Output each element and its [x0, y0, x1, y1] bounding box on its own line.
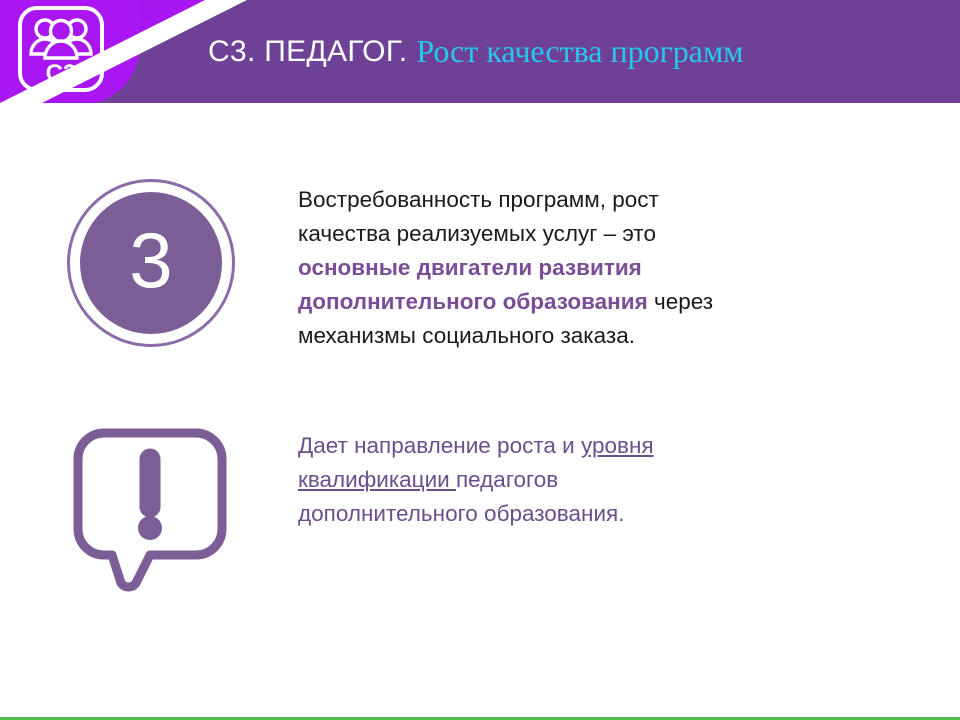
slide-content: 3 Востребованность программ, рост качест… — [0, 103, 960, 720]
slide-header: С3 С3. ПЕДАГОГ. Рост качества программ — [0, 0, 960, 103]
number-circle-label: 3 — [129, 221, 172, 299]
badge-label: С3 — [46, 60, 77, 87]
slide-root: С3 С3. ПЕДАГОГ. Рост качества программ 3… — [0, 0, 960, 720]
group-of-people-icon: С3 — [16, 5, 106, 93]
block-1-marker-column: 3 — [0, 179, 298, 347]
content-block-1: 3 Востребованность программ, рост качест… — [0, 179, 858, 353]
speech-bubble-exclamation-icon — [70, 425, 230, 593]
number-circle-badge: 3 — [67, 179, 235, 347]
block-2-paragraph: Дает направление роста и уровня квалифик… — [298, 429, 738, 531]
block-2-marker-column — [0, 425, 298, 593]
c3-badge-logo: С3 — [16, 5, 106, 93]
block-1-paragraph: Востребованность программ, рост качества… — [298, 183, 753, 353]
content-block-2: Дает направление роста и уровня квалифик… — [0, 425, 858, 593]
block-1-run-2-emphasis: основные двигатели развития дополнительн… — [298, 255, 648, 314]
block-2-run-1: Дает направление роста и — [298, 433, 581, 458]
block-2-text-column: Дает направление роста и уровня квалифик… — [298, 425, 858, 531]
number-circle-fill: 3 — [80, 192, 222, 334]
page-title-accent: Рост качества программ — [416, 33, 743, 70]
exclamation-bubble-icon — [70, 425, 230, 593]
block-1-text-column: Востребованность программ, рост качества… — [298, 179, 858, 353]
page-title: С3. ПЕДАГОГ. Рост качества программ — [208, 0, 743, 103]
block-1-run-1: Востребованность программ, рост качества… — [298, 187, 659, 246]
page-title-main: С3. ПЕДАГОГ. — [208, 35, 407, 69]
